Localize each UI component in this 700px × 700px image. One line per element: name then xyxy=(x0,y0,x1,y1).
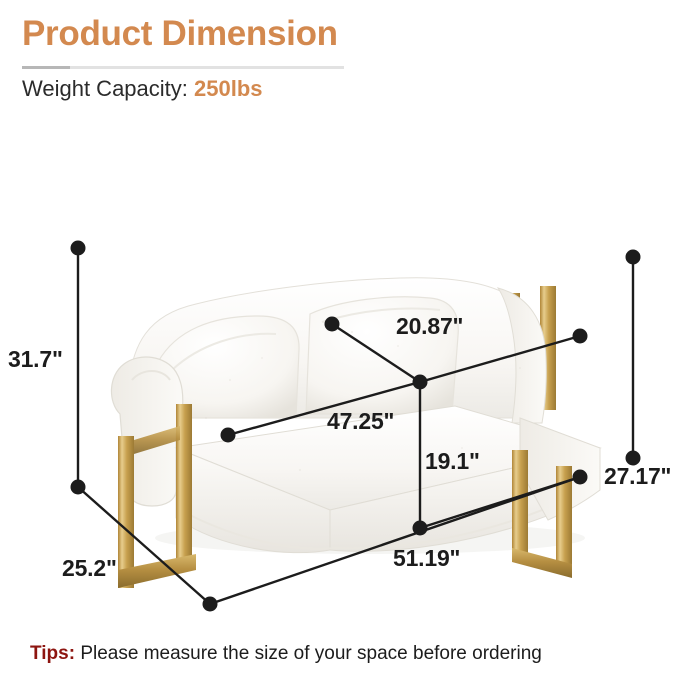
dimension-label-seat-width: 47.25" xyxy=(327,408,394,435)
header: Product Dimension Weight Capacity: 250lb… xyxy=(0,0,700,118)
dimension-label-overall-depth: 25.2" xyxy=(62,555,117,582)
weight-capacity-value: 250lbs xyxy=(194,76,263,101)
dimension-label-overall-height: 31.7" xyxy=(8,346,63,373)
vertex-seat-left xyxy=(221,428,236,443)
title-divider xyxy=(22,66,344,69)
tips-text: Please measure the size of your space be… xyxy=(80,643,542,664)
weight-capacity: Weight Capacity: 250lbs xyxy=(22,76,263,102)
tips-label: Tips: xyxy=(30,643,75,664)
vertex-bottom-left xyxy=(71,480,86,495)
weight-capacity-label: Weight Capacity: xyxy=(22,76,188,101)
vertex-bottom-front xyxy=(203,597,218,612)
diagram-canvas xyxy=(0,118,700,630)
product-dimension-diagram: 31.7" 25.2" 20.87" 47.25" 19.1" 51.19" 2… xyxy=(0,118,700,630)
dimension-label-seat-depth: 20.87" xyxy=(396,313,463,340)
vertex-seat-back xyxy=(325,317,340,332)
dimension-label-overall-width: 51.19" xyxy=(393,545,460,572)
dimension-label-side-height: 27.17" xyxy=(604,463,671,490)
page-title: Product Dimension xyxy=(22,14,338,54)
title-divider-accent xyxy=(22,66,70,69)
tips-note: Tips: Please measure the size of your sp… xyxy=(30,643,542,665)
dimension-label-seat-height: 19.1" xyxy=(425,448,480,475)
vertex-seat-right xyxy=(573,329,588,344)
vertex-base-center xyxy=(413,521,428,536)
vertex-seat-junction xyxy=(413,375,428,390)
vertex-bottom-right xyxy=(573,470,588,485)
vertex-top-right xyxy=(626,250,641,265)
vertex-top-left xyxy=(71,241,86,256)
